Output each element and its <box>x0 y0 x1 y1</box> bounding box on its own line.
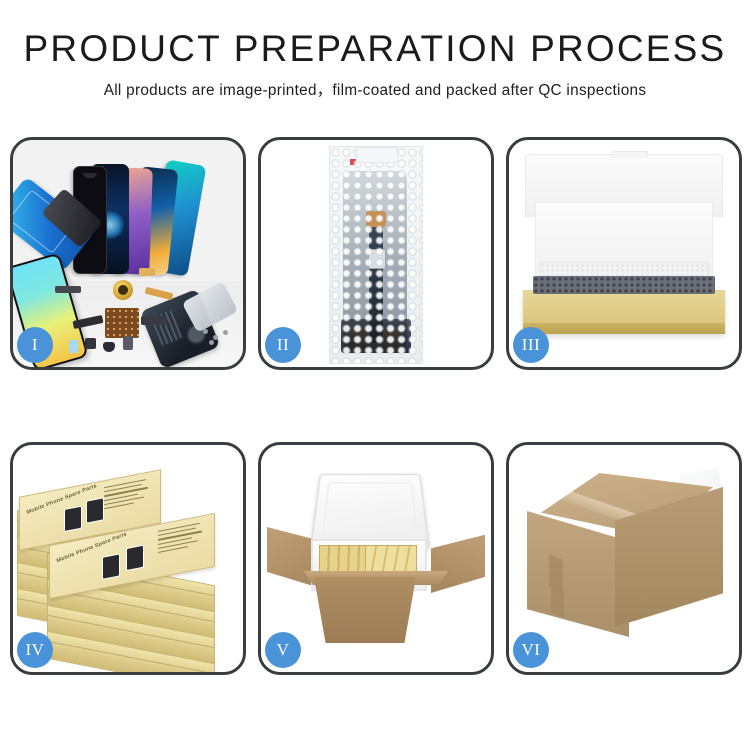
process-step-card-2: II <box>258 137 494 370</box>
small-component-4 <box>123 336 133 350</box>
carton-seam-bottom <box>551 586 564 617</box>
box-screen-photo-left <box>102 553 120 579</box>
small-component-1 <box>69 340 78 353</box>
speaker-bar-part <box>55 286 81 293</box>
box-screen-photo-right <box>86 497 104 523</box>
yellow-box-stack: Mobile Phone Spare Parts Mobile Phone Sp… <box>17 463 241 659</box>
process-step-card-3: III <box>506 137 742 370</box>
page-subtitle: All products are image-printed，film-coat… <box>0 78 750 100</box>
yellow-box-tray <box>523 290 725 334</box>
carton-body <box>307 577 423 643</box>
page-header: PRODUCT PREPARATION PROCESS All products… <box>0 0 750 100</box>
step-badge-6: VI <box>513 632 549 668</box>
box-screen-photo-left <box>64 506 82 532</box>
product-preparation-process-page: PRODUCT PREPARATION PROCESS All products… <box>0 0 750 750</box>
process-step-card-4: Mobile Phone Spare Parts Mobile Phone Sp… <box>10 442 246 675</box>
step-badge-5: V <box>265 632 301 668</box>
process-step-card-5: V <box>258 442 494 675</box>
copper-coil-part <box>113 280 133 300</box>
process-step-card-1: I <box>10 137 246 370</box>
phone-screen-fan <box>73 156 223 274</box>
step-badge-3: III <box>513 327 549 363</box>
flex-cable-part-3 <box>141 316 167 325</box>
step-badge-4: IV <box>17 632 53 668</box>
sealed-carton <box>527 473 723 637</box>
small-component-2 <box>85 338 96 349</box>
bag-seal-flap <box>356 147 398 163</box>
process-step-grid: I II <box>10 137 740 675</box>
screws-group <box>203 329 229 345</box>
box-spec-lines <box>158 522 206 557</box>
box-spec-lines <box>104 478 152 513</box>
process-step-card-6: VI <box>506 442 742 675</box>
box-screen-photo-right <box>126 545 144 571</box>
bubble-wrap-bag <box>329 146 423 364</box>
foam-box-lid <box>310 474 431 550</box>
chip-array-part <box>105 308 139 338</box>
step-badge-2: II <box>265 327 301 363</box>
small-component-5 <box>139 268 155 276</box>
page-title: PRODUCT PREPARATION PROCESS <box>0 30 750 69</box>
carton-left-face <box>527 511 629 637</box>
bubble-texture <box>330 147 422 363</box>
step-badge-1: I <box>17 327 53 363</box>
